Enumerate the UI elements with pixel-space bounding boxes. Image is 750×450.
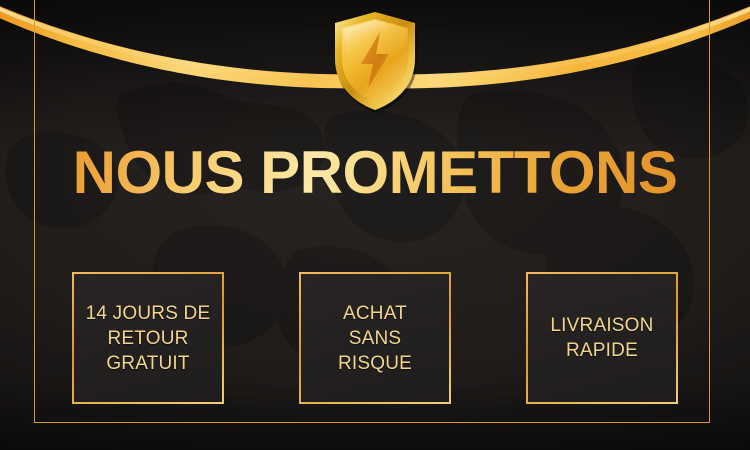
shield-lightning-icon bbox=[325, 8, 425, 116]
promise-label: LIVRAISON RAPIDE bbox=[544, 313, 659, 363]
page-title: NOUS PROMETTONS bbox=[0, 142, 750, 204]
promise-box-return-policy: 14 JOURS DE RETOUR GRATUIT bbox=[72, 272, 224, 404]
promise-label: 14 JOURS DE RETOUR GRATUIT bbox=[80, 301, 217, 376]
promise-label: ACHAT SANS RISQUE bbox=[332, 301, 418, 376]
promise-box-list: 14 JOURS DE RETOUR GRATUIT ACHAT SANS RI… bbox=[72, 272, 678, 404]
promise-box-fast-delivery: LIVRAISON RAPIDE bbox=[526, 272, 678, 404]
promise-banner: NOUS PROMETTONS 14 JOURS DE RETOUR GRATU… bbox=[0, 0, 750, 450]
promise-box-risk-free-purchase: ACHAT SANS RISQUE bbox=[299, 272, 451, 404]
